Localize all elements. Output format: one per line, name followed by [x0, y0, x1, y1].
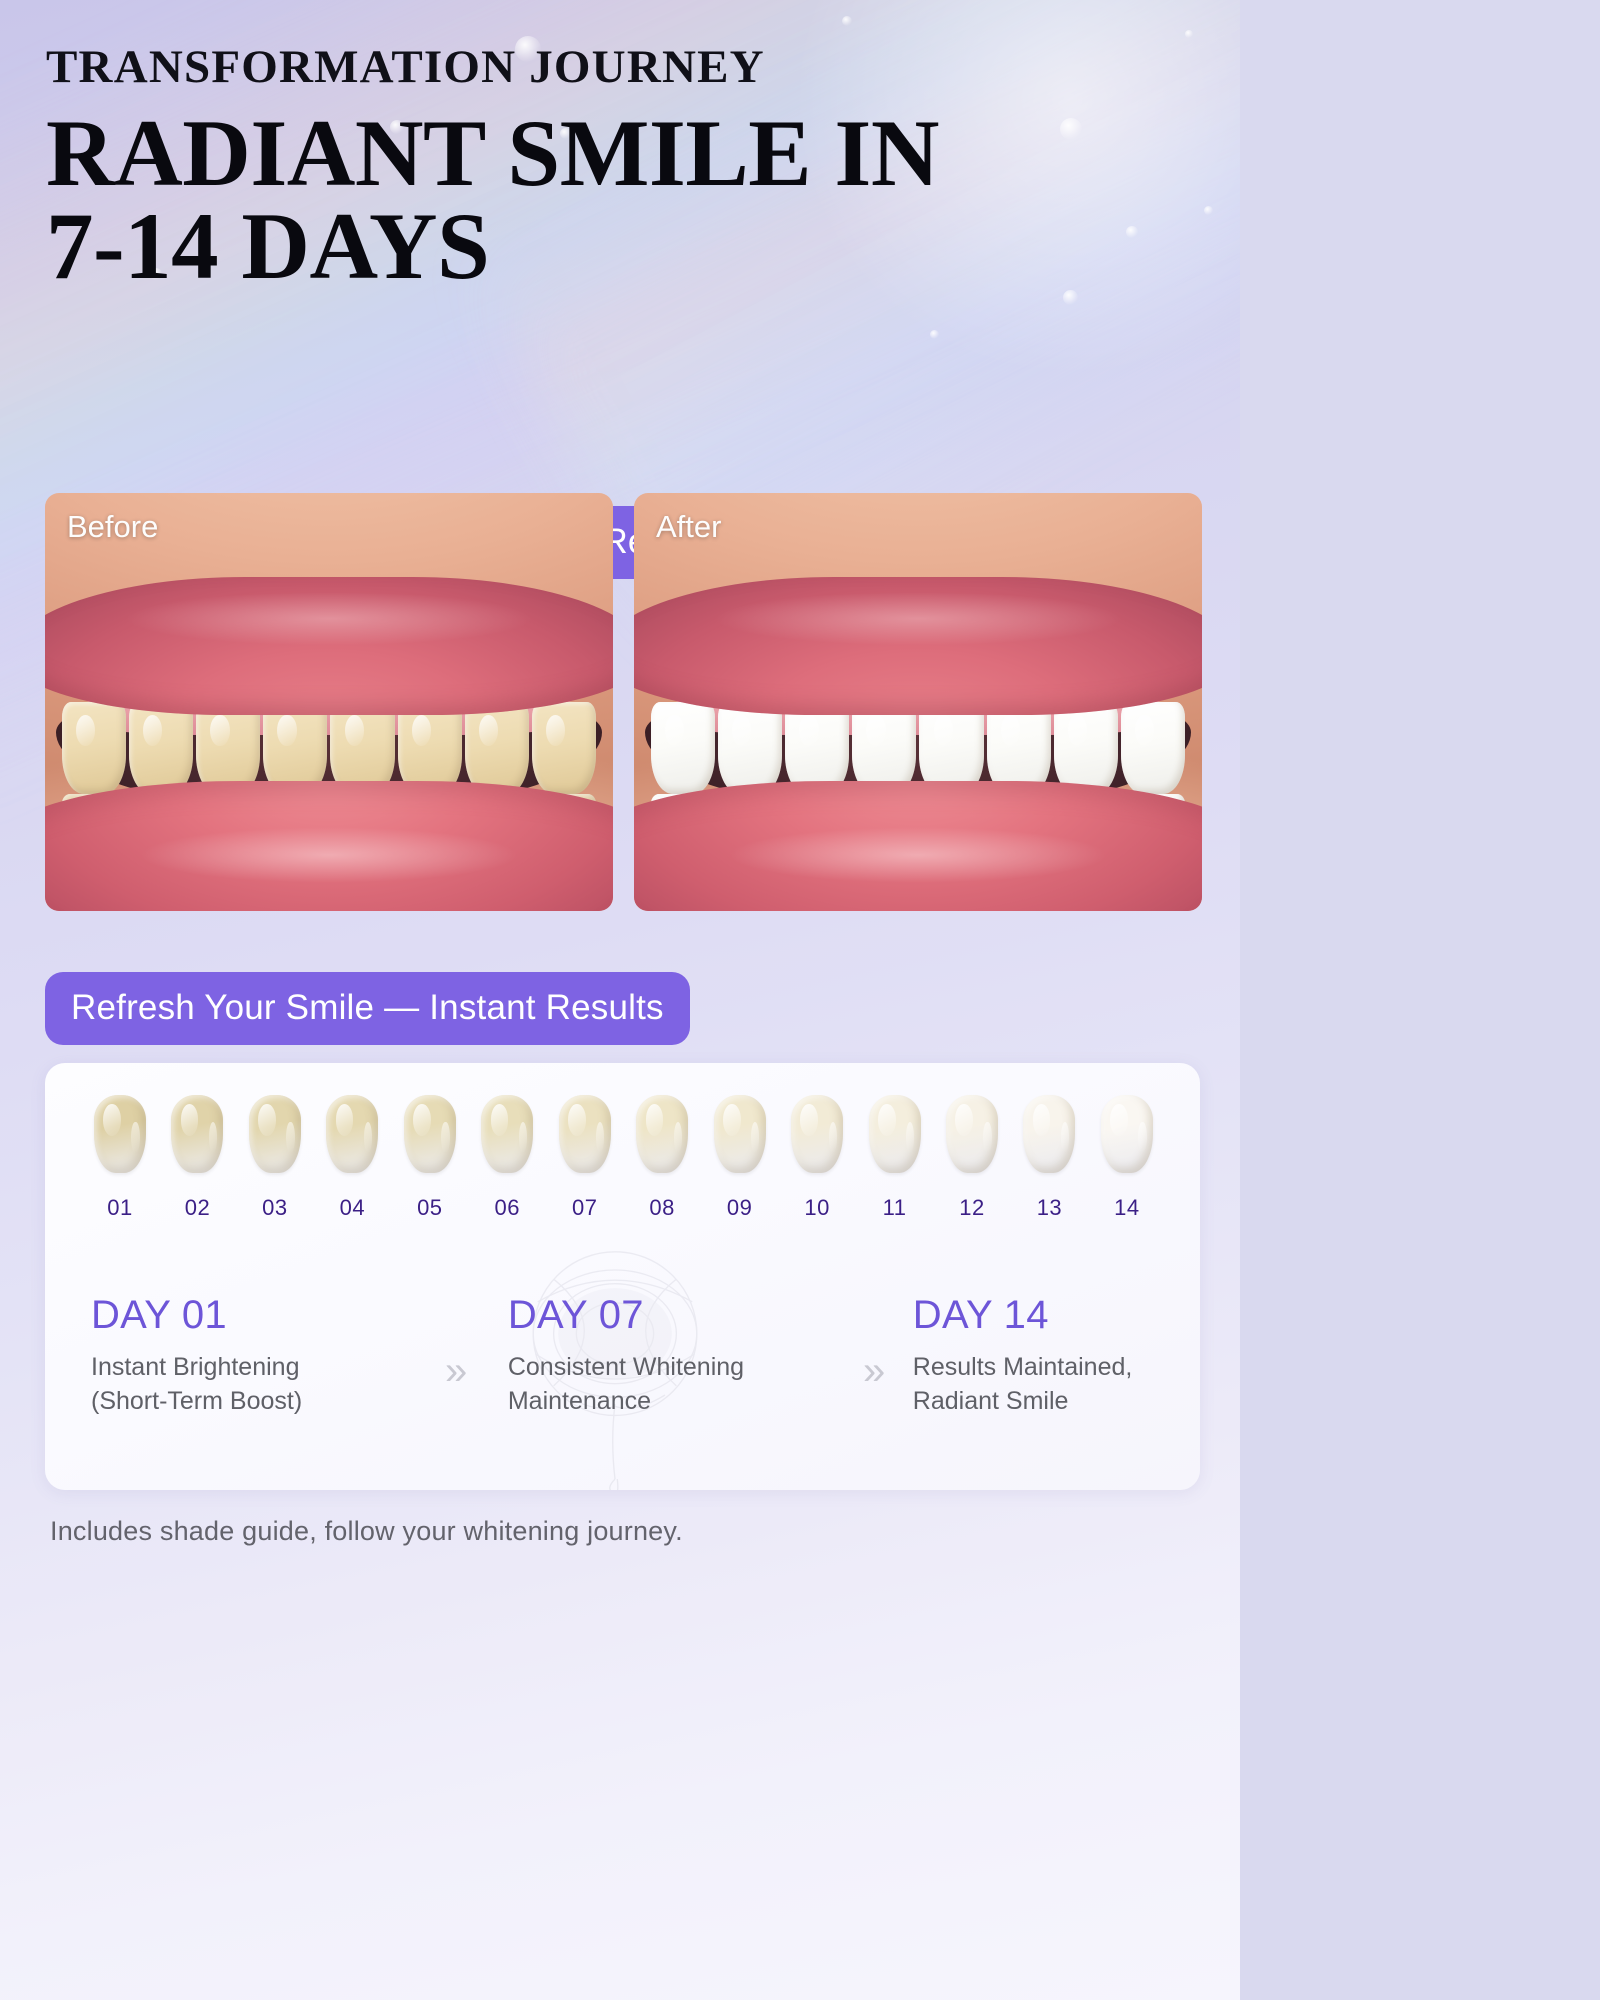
shade-swatch[interactable]: 09	[711, 1095, 769, 1221]
tooth	[62, 702, 126, 794]
step-title: DAY 14	[913, 1295, 1200, 1335]
upper-lip	[634, 577, 1202, 715]
shade-swatch[interactable]: 03	[246, 1095, 304, 1221]
step-title: DAY 07	[508, 1295, 825, 1335]
shade-guide-card: 0102030405060708091011121314 DAY 01 Inst…	[45, 1063, 1200, 1490]
tooth-icon	[481, 1095, 533, 1173]
tooth	[718, 702, 782, 794]
tooth	[1054, 702, 1118, 794]
after-label: After	[656, 511, 721, 542]
after-photo: After	[634, 493, 1202, 911]
shade-number: 14	[1114, 1195, 1139, 1221]
tooth	[919, 702, 983, 794]
eyebrow-title: TRANSFORMATION JOURNEY	[46, 44, 1196, 91]
bokeh-dot	[1185, 30, 1193, 38]
shade-swatch[interactable]: 01	[91, 1095, 149, 1221]
bokeh-dot	[930, 330, 939, 339]
shade-guide-row: 0102030405060708091011121314	[91, 1095, 1156, 1221]
before-label: Before	[67, 511, 158, 542]
shade-number: 13	[1037, 1195, 1062, 1221]
step-description: Results Maintained, Radiant Smile	[913, 1351, 1200, 1418]
tooth-icon	[791, 1095, 843, 1173]
after-mouth-image	[634, 493, 1202, 911]
timeline-steps: DAY 01 Instant Brightening (Short-Term B…	[45, 1295, 1200, 1418]
lower-lip	[45, 781, 613, 911]
tooth	[196, 702, 260, 794]
tooth-icon	[559, 1095, 611, 1173]
poster-root: TRANSFORMATION JOURNEY RADIANT SMILE IN …	[0, 0, 1240, 2000]
upper-teeth-row	[651, 702, 1185, 794]
lower-lip	[634, 781, 1202, 911]
shade-swatch[interactable]: 10	[788, 1095, 846, 1221]
tooth	[263, 702, 327, 794]
step-title: DAY 01	[91, 1295, 418, 1335]
shade-swatch[interactable]: 07	[556, 1095, 614, 1221]
upper-teeth-row	[62, 702, 596, 794]
footer-note: Includes shade guide, follow your whiten…	[50, 1516, 683, 1547]
shade-guide-badge: Refresh Your Smile — Instant Results	[45, 972, 690, 1045]
shade-number: 08	[649, 1195, 674, 1221]
tooth	[330, 702, 394, 794]
chevron-right-icon: »	[445, 1351, 459, 1391]
page-title: RADIANT SMILE IN 7-14 DAYS	[46, 107, 1196, 293]
bokeh-dot	[1204, 206, 1213, 215]
shade-number: 10	[804, 1195, 829, 1221]
shade-swatch[interactable]: 13	[1020, 1095, 1078, 1221]
tooth	[532, 702, 596, 794]
shade-number: 02	[185, 1195, 210, 1221]
shade-number: 04	[340, 1195, 365, 1221]
shade-swatch[interactable]: 06	[478, 1095, 536, 1221]
tooth-icon	[869, 1095, 921, 1173]
tooth-icon	[714, 1095, 766, 1173]
header-block: TRANSFORMATION JOURNEY RADIANT SMILE IN …	[46, 44, 1196, 293]
timeline-step-day-07: DAY 07 Consistent Whitening Maintenance	[508, 1295, 825, 1418]
shade-number: 03	[262, 1195, 287, 1221]
shade-swatch[interactable]: 04	[323, 1095, 381, 1221]
tooth-icon	[249, 1095, 301, 1173]
tooth-icon	[326, 1095, 378, 1173]
tooth	[785, 702, 849, 794]
tooth	[651, 702, 715, 794]
before-mouth-image	[45, 493, 613, 911]
tooth	[987, 702, 1051, 794]
page-title-line-2: 7-14 DAYS	[46, 200, 1196, 293]
tooth-icon	[1023, 1095, 1075, 1173]
page-title-line-1: RADIANT SMILE IN	[46, 107, 1196, 200]
shade-number: 09	[727, 1195, 752, 1221]
shade-number: 07	[572, 1195, 597, 1221]
tooth-icon	[1101, 1095, 1153, 1173]
tooth-icon	[94, 1095, 146, 1173]
shade-number: 12	[959, 1195, 984, 1221]
tooth-icon	[636, 1095, 688, 1173]
tooth-icon	[171, 1095, 223, 1173]
shade-number: 01	[107, 1195, 132, 1221]
shade-swatch[interactable]: 08	[633, 1095, 691, 1221]
tooth	[465, 702, 529, 794]
bokeh-dot	[842, 16, 852, 26]
shade-swatch[interactable]: 05	[401, 1095, 459, 1221]
tooth	[1121, 702, 1185, 794]
shade-swatch[interactable]: 11	[866, 1095, 924, 1221]
tooth	[398, 702, 462, 794]
shade-number: 05	[417, 1195, 442, 1221]
chevron-right-icon: »	[863, 1351, 877, 1391]
before-after-gallery: Before	[45, 493, 1195, 911]
shade-number: 11	[883, 1195, 907, 1221]
tooth	[129, 702, 193, 794]
before-photo: Before	[45, 493, 613, 911]
step-description: Instant Brightening (Short-Term Boost)	[91, 1351, 418, 1418]
shade-swatch[interactable]: 12	[943, 1095, 1001, 1221]
tooth	[852, 702, 916, 794]
shade-number: 06	[495, 1195, 520, 1221]
upper-lip	[45, 577, 613, 715]
tooth-icon	[404, 1095, 456, 1173]
timeline-step-day-14: DAY 14 Results Maintained, Radiant Smile	[913, 1295, 1200, 1418]
shade-swatch[interactable]: 14	[1098, 1095, 1156, 1221]
step-description: Consistent Whitening Maintenance	[508, 1351, 825, 1418]
tooth-icon	[946, 1095, 998, 1173]
timeline-step-day-01: DAY 01 Instant Brightening (Short-Term B…	[91, 1295, 418, 1418]
shade-swatch[interactable]: 02	[168, 1095, 226, 1221]
